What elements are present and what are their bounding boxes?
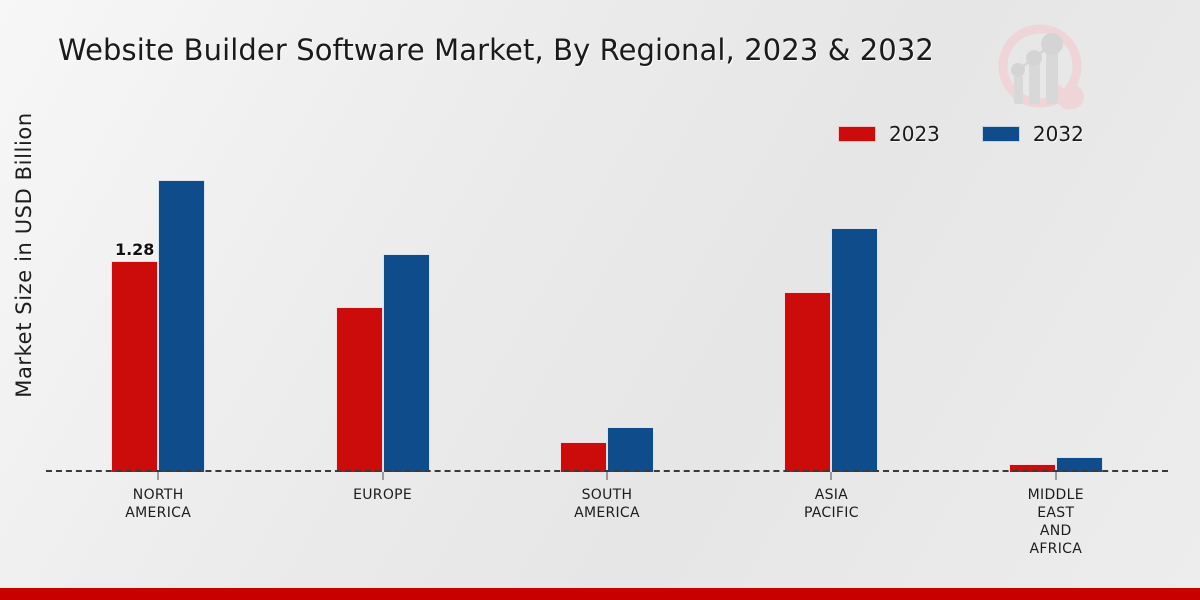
bar-2032[interactable] <box>607 427 654 472</box>
x-axis-category-label: SOUTH AMERICA <box>574 486 640 522</box>
bar-2023[interactable] <box>784 292 831 472</box>
bar-2023[interactable]: 1.28 <box>111 261 158 472</box>
bar-value-label: 1.28 <box>115 240 154 259</box>
y-axis-title: Market Size in USD Billion <box>12 85 36 425</box>
x-axis-category-label: MIDDLE EAST AND AFRICA <box>1028 486 1084 558</box>
bar-group: SOUTH AMERICA <box>495 150 719 472</box>
x-axis-tick <box>382 472 383 480</box>
legend-label-2023: 2023 <box>889 122 940 146</box>
chart-container: Website Builder Software Market, By Regi… <box>0 0 1200 600</box>
bar-pair <box>270 150 494 472</box>
plot-area: 1.28NORTH AMERICAEUROPESOUTH AMERICAASIA… <box>46 150 1168 472</box>
x-axis-tick <box>158 472 159 480</box>
bar-group: ASIA PACIFIC <box>719 150 943 472</box>
bar-pair: 1.28 <box>46 150 270 472</box>
magnifier-bar-chart-icon <box>992 18 1096 118</box>
chart-title: Website Builder Software Market, By Regi… <box>58 33 934 67</box>
bar-2023[interactable] <box>560 442 607 472</box>
footer-accent-bar <box>0 588 1200 600</box>
x-axis-category-label: EUROPE <box>353 486 412 504</box>
bar-group: 1.28NORTH AMERICA <box>46 150 270 472</box>
x-axis-tick <box>606 472 607 480</box>
bar-group: EUROPE <box>270 150 494 472</box>
chart-legend: 2023 2032 <box>838 122 1084 146</box>
bar-pair <box>495 150 719 472</box>
bar-2032[interactable] <box>158 180 205 472</box>
bar-pair <box>719 150 943 472</box>
legend-swatch-2032 <box>982 126 1020 142</box>
bar-pair <box>944 150 1168 472</box>
bar-group: MIDDLE EAST AND AFRICA <box>944 150 1168 472</box>
legend-item-2023[interactable]: 2023 <box>838 122 940 146</box>
legend-item-2032[interactable]: 2032 <box>982 122 1084 146</box>
bar-2023[interactable] <box>336 307 383 472</box>
x-axis-category-label: ASIA PACIFIC <box>804 486 859 522</box>
bar-2032[interactable] <box>831 228 878 472</box>
x-axis-tick <box>831 472 832 480</box>
legend-label-2032: 2032 <box>1033 122 1084 146</box>
legend-swatch-2023 <box>838 126 876 142</box>
bar-2032[interactable] <box>383 254 430 472</box>
x-axis-category-label: NORTH AMERICA <box>125 486 191 522</box>
x-axis-tick <box>1055 472 1056 480</box>
x-axis-baseline <box>46 470 1168 472</box>
